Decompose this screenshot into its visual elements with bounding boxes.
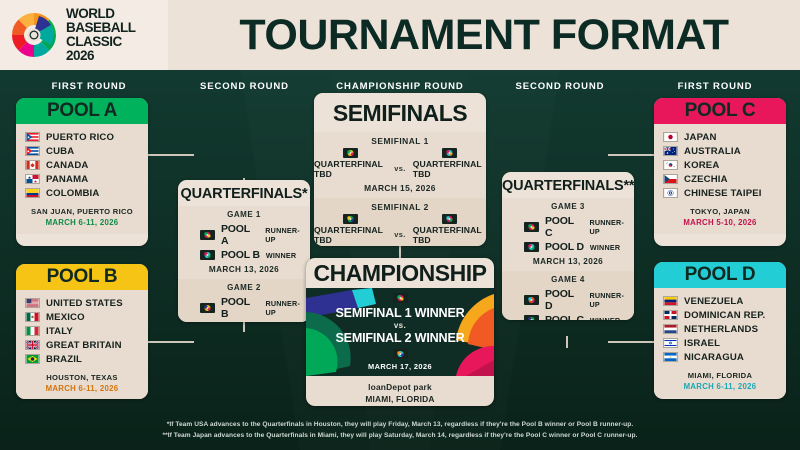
quarterfinals-left-card[interactable]: QUARTERFINALS* GAME 1 POOL A RUNNER-UP P… xyxy=(178,180,310,322)
flag-venezuela xyxy=(663,296,678,306)
flag-israel xyxy=(663,338,678,348)
semifinal-1-block: SEMIFINAL 1 QUARTERFINAL TBD vs. QUARTER… xyxy=(314,132,486,198)
qf-team-row: POOL C RUNNER-UP xyxy=(502,214,634,240)
championship-venue-line-1: loanDepot park xyxy=(306,381,494,393)
pool-a-team-row: PANAMA xyxy=(16,172,148,186)
pool-a-team-row: CANADA xyxy=(16,158,148,172)
championship-line-2: SEMIFINAL 2 WINNER xyxy=(335,331,464,345)
pool-card-pool-d[interactable]: POOL D VENEZUELA DOMINICAN REP. NETHERLA… xyxy=(654,262,786,399)
pool-a-venue-block: SAN JUAN, PUERTO RICO MARCH 6-11, 2026 xyxy=(16,202,148,234)
flag-korea xyxy=(663,160,678,170)
quarterfinals-right-title: QUARTERFINALS** xyxy=(502,172,634,198)
pool-d-team-name: VENEZUELA xyxy=(684,296,743,307)
qf-team-main: POOL C xyxy=(545,215,584,239)
pool-b-team-row: MEXICO xyxy=(16,310,148,324)
footnote-1: *If Team USA advances to the Quarterfina… xyxy=(0,420,800,431)
pool-b-team-row: BRAZIL xyxy=(16,352,148,366)
pool-c-team-name: CZECHIA xyxy=(684,174,728,185)
connector-pool-c-to-qf xyxy=(608,154,654,156)
pool-c-team-name: CHINESE TAIPEI xyxy=(684,188,762,199)
brand-year: 2026 xyxy=(66,49,136,63)
pool-c-team-row: AUSTRALIA xyxy=(654,144,786,158)
quarterfinals-right-card[interactable]: QUARTERFINALS** GAME 3 POOL C RUNNER-UP … xyxy=(502,172,634,320)
semifinal-side-right: QUARTERFINAL TBD xyxy=(413,214,486,245)
pool-c-team-row: KOREA xyxy=(654,158,786,172)
pool-a-team-name: CUBA xyxy=(46,146,74,157)
pool-c-venue: TOKYO, JAPAN xyxy=(656,206,784,217)
pool-b-venue: HOUSTON, TEXAS xyxy=(18,372,146,383)
quarterfinals-right-game-3: GAME 3 POOL C RUNNER-UP POOL D WINNER MA… xyxy=(502,198,634,271)
semifinal-label: SEMIFINAL 1 xyxy=(314,134,486,147)
round-label-championship-round: CHAMPIONSHIP ROUND xyxy=(322,81,478,92)
game-label: GAME 3 xyxy=(502,200,634,214)
pool-b-team-name: MEXICO xyxy=(46,312,85,323)
pool-d-team-row: ISRAEL xyxy=(654,336,786,350)
quarterfinals-left-title: QUARTERFINALS* xyxy=(178,180,310,206)
qf-game-date: MARCH 13, 2026 xyxy=(502,254,634,267)
pool-c-team-row: JAPAN xyxy=(654,130,786,144)
qf-team-sub: RUNNER-UP xyxy=(266,299,311,317)
pool-d-team-list: VENEZUELA DOMINICAN REP. NETHERLANDS ISR… xyxy=(654,288,786,366)
semifinal-team-right: QUARTERFINAL TBD xyxy=(413,159,486,179)
qf-team-row: POOL A WINNER xyxy=(178,321,310,322)
championship-venue-line-2: MIAMI, FLORIDA xyxy=(306,393,494,405)
round-label-first-round-right: FIRST ROUND xyxy=(640,81,790,92)
championship-date: MARCH 17, 2026 xyxy=(368,360,432,371)
flag-colombia xyxy=(25,188,40,198)
pool-a-team-row: CUBA xyxy=(16,144,148,158)
quarterfinals-left-game-2: GAME 2 POOL B RUNNER-UP POOL A WINNER MA… xyxy=(178,279,310,322)
championship-line-1: SEMIFINAL 1 WINNER xyxy=(335,306,464,320)
wbc-badge-icon xyxy=(200,230,215,240)
flag-nicaragua xyxy=(663,352,678,362)
flag-canada xyxy=(25,160,40,170)
qf-team-main: POOL D xyxy=(545,288,584,312)
pool-a-team-name: COLOMBIA xyxy=(46,188,99,199)
game-label: GAME 4 xyxy=(502,273,634,287)
game-label: GAME 1 xyxy=(178,208,310,222)
qf-team-sub: RUNNER-UP xyxy=(590,218,635,236)
round-label-second-round-left: SECOND ROUND xyxy=(172,81,317,92)
championship-body: SEMIFINAL 1 WINNER vs. SEMIFINAL 2 WINNE… xyxy=(306,288,494,376)
pool-a-team-row: COLOMBIA xyxy=(16,186,148,200)
semifinal-vs-label: vs. xyxy=(394,221,405,239)
pool-b-venue-block: HOUSTON, TEXAS MARCH 6-11, 2026 xyxy=(16,368,148,399)
qf-team-row: POOL D WINNER xyxy=(502,240,634,254)
connector-pool-a-to-qf xyxy=(148,154,194,156)
qf-team-sub: RUNNER-UP xyxy=(265,226,310,244)
flag-japan xyxy=(663,132,678,142)
flag-czechia xyxy=(663,174,678,184)
pool-b-dates: MARCH 6-11, 2026 xyxy=(18,383,146,394)
wbc-badge-icon xyxy=(442,148,457,158)
semifinal-side-right: QUARTERFINAL TBD xyxy=(413,148,486,179)
flag-great-britain xyxy=(25,340,40,350)
flag-mexico xyxy=(25,312,40,322)
pool-d-venue: MIAMI, FLORIDA xyxy=(656,370,784,381)
qf-team-row: POOL D RUNNER-UP xyxy=(502,287,634,313)
qf-team-sub: WINNER xyxy=(590,316,620,321)
pool-b-team-row: GREAT BRITAIN xyxy=(16,338,148,352)
pool-c-team-name: JAPAN xyxy=(684,132,717,143)
pool-d-banner: POOL D xyxy=(654,262,786,288)
quarterfinals-left-game-1: GAME 1 POOL A RUNNER-UP POOL B WINNER MA… xyxy=(178,206,310,279)
pool-a-dates: MARCH 6-11, 2026 xyxy=(18,217,146,228)
pool-a-team-row: PUERTO RICO xyxy=(16,130,148,144)
semifinals-title: SEMIFINALS xyxy=(314,93,486,132)
tournament-bracket-graphic: WORLD BASEBALL CLASSIC 2026 TOURNAMENT F… xyxy=(0,0,800,450)
flag-australia xyxy=(663,146,678,156)
semifinal-team-left: QUARTERFINAL TBD xyxy=(314,159,387,179)
pool-b-banner: POOL B xyxy=(16,264,148,290)
semifinal-date: MARCH 15, 2026 xyxy=(314,181,486,194)
wbc-logo xyxy=(9,10,59,60)
pool-d-team-name: DOMINICAN REP. xyxy=(684,310,765,321)
flag-dominican-republic xyxy=(663,310,678,320)
qf-game-date: MARCH 13, 2026 xyxy=(178,262,310,275)
connector-pool-b-to-qf xyxy=(148,341,194,343)
pool-b-team-name: UNITED STATES xyxy=(46,298,123,309)
pool-b-team-name: GREAT BRITAIN xyxy=(46,340,122,351)
semifinal-team-left: QUARTERFINAL TBD xyxy=(314,225,387,245)
brand-lockup: WORLD BASEBALL CLASSIC 2026 xyxy=(0,0,168,70)
pool-a-team-name: PANAMA xyxy=(46,174,88,185)
championship-venue: loanDepot park MIAMI, FLORIDA xyxy=(306,376,494,406)
pool-a-team-list: PUERTO RICO CUBA CANADA PANAMA COLOMBIA xyxy=(16,124,148,202)
pool-b-team-row: ITALY xyxy=(16,324,148,338)
pool-d-team-row: NICARAGUA xyxy=(654,350,786,364)
qf-team-row: POOL B RUNNER-UP xyxy=(178,295,310,321)
flag-united-states xyxy=(25,298,40,308)
wbc-badge-icon xyxy=(524,242,539,252)
pool-b-team-name: ITALY xyxy=(46,326,73,337)
pool-c-team-name: AUSTRALIA xyxy=(684,146,741,157)
pool-card-pool-a[interactable]: POOL A PUERTO RICO CUBA CANADA PANAMA CO… xyxy=(16,98,148,246)
qf-team-main: POOL B xyxy=(221,296,260,320)
pool-d-team-row: DOMINICAN REP. xyxy=(654,308,786,322)
qf-team-row: POOL A RUNNER-UP xyxy=(178,222,310,248)
wbc-badge-icon xyxy=(200,250,215,260)
flag-netherlands xyxy=(663,324,678,334)
connector-qf-right-stem xyxy=(566,336,568,348)
pool-c-dates: MARCH 5-10, 2026 xyxy=(656,217,784,228)
championship-vs-label: vs. xyxy=(394,321,406,330)
semifinal-label: SEMIFINAL 2 xyxy=(314,200,486,213)
game-label: GAME 2 xyxy=(178,281,310,295)
qf-team-sub: RUNNER-UP xyxy=(590,291,635,309)
flag-puerto-rico xyxy=(25,132,40,142)
round-label-first-round-left: FIRST ROUND xyxy=(14,81,164,92)
championship-title: CHAMPIONSHIP xyxy=(306,258,494,288)
round-label-second-round-right: SECOND ROUND xyxy=(486,81,634,92)
wbc-badge-icon xyxy=(524,222,539,232)
wbc-badge-icon xyxy=(343,214,358,224)
qf-team-row: POOL B WINNER xyxy=(178,248,310,262)
semifinal-2-block: SEMIFINAL 2 QUARTERFINAL TBD vs. QUARTER… xyxy=(314,198,486,246)
flag-chinese-taipei xyxy=(663,188,678,198)
pool-b-team-list: UNITED STATES MEXICO ITALY GREAT BRITAIN… xyxy=(16,290,148,368)
semifinal-side-left: QUARTERFINAL TBD xyxy=(314,214,387,245)
semifinals-card[interactable]: SEMIFINALS SEMIFINAL 1 QUARTERFINAL TBD … xyxy=(314,93,486,246)
wbc-badge-icon xyxy=(524,315,539,320)
qf-team-main: POOL D xyxy=(545,241,584,253)
brand-line-1: WORLD xyxy=(66,7,136,21)
pool-card-pool-b[interactable]: POOL B UNITED STATES MEXICO ITALY GREAT … xyxy=(16,264,148,399)
pool-d-dates: MARCH 6-11, 2026 xyxy=(656,381,784,392)
qf-team-main: POOL C xyxy=(545,314,584,320)
qf-team-sub: WINNER xyxy=(590,243,620,252)
pool-a-team-name: CANADA xyxy=(46,160,88,171)
pool-c-banner: POOL C xyxy=(654,98,786,124)
page-header: WORLD BASEBALL CLASSIC 2026 TOURNAMENT F… xyxy=(0,0,800,70)
semifinal-side-left: QUARTERFINAL TBD xyxy=(314,148,387,179)
wbc-badge-icon xyxy=(343,148,358,158)
wbc-badge-icon xyxy=(442,214,457,224)
pool-b-team-row: UNITED STATES xyxy=(16,296,148,310)
qf-team-main: POOL B xyxy=(221,249,260,261)
footnotes: *If Team USA advances to the Quarterfina… xyxy=(0,420,800,442)
championship-matchup: SEMIFINAL 1 WINNER vs. SEMIFINAL 2 WINNE… xyxy=(306,288,494,376)
pool-d-team-row: NETHERLANDS xyxy=(654,322,786,336)
semifinal-matchup: QUARTERFINAL TBD vs. QUARTERFINAL TBD xyxy=(314,213,486,246)
pool-c-team-row: CZECHIA xyxy=(654,172,786,186)
wbc-badge-icon xyxy=(524,295,539,305)
wbc-badge-icon xyxy=(200,303,215,313)
flag-cuba xyxy=(25,146,40,156)
brand-wordmark: WORLD BASEBALL CLASSIC 2026 xyxy=(66,7,136,63)
flag-brazil xyxy=(25,354,40,364)
connector-pool-d-to-qf xyxy=(608,341,654,343)
championship-card[interactable]: CHAMPIONSHIP SEMIFINAL 1 WINNER vs. SEMI… xyxy=(306,258,494,406)
pool-c-team-row: CHINESE TAIPEI xyxy=(654,186,786,200)
pool-b-team-name: BRAZIL xyxy=(46,354,82,365)
pool-a-banner: POOL A xyxy=(16,98,148,124)
pool-a-team-name: PUERTO RICO xyxy=(46,132,114,143)
page-title: TOURNAMENT FORMAT xyxy=(168,0,800,70)
pool-c-team-list: JAPAN AUSTRALIA KOREA CZECHIA CHINESE TA… xyxy=(654,124,786,202)
semifinal-vs-label: vs. xyxy=(394,155,405,173)
brand-line-2: BASEBALL xyxy=(66,21,136,35)
qf-team-row: POOL C WINNER xyxy=(502,313,634,320)
quarterfinals-right-game-4: GAME 4 POOL D RUNNER-UP POOL C WINNER MA… xyxy=(502,271,634,320)
pool-d-team-name: NICARAGUA xyxy=(684,352,744,363)
pool-d-team-name: ISRAEL xyxy=(684,338,720,349)
pool-d-team-row: VENEZUELA xyxy=(654,294,786,308)
pool-a-venue: SAN JUAN, PUERTO RICO xyxy=(18,206,146,217)
semifinal-team-right: QUARTERFINAL TBD xyxy=(413,225,486,245)
wbc-badge-icon xyxy=(393,349,408,359)
wbc-badge-icon xyxy=(393,293,408,303)
footnote-2: **If Team Japan advances to the Quarterf… xyxy=(0,431,800,442)
flag-italy xyxy=(25,326,40,336)
qf-team-main: POOL A xyxy=(221,223,259,247)
pool-c-venue-block: TOKYO, JAPAN MARCH 5-10, 2026 xyxy=(654,202,786,234)
semifinal-matchup: QUARTERFINAL TBD vs. QUARTERFINAL TBD xyxy=(314,147,486,181)
qf-team-sub: WINNER xyxy=(266,251,296,260)
pool-d-venue-block: MIAMI, FLORIDA MARCH 6-11, 2026 xyxy=(654,366,786,398)
brand-line-3: CLASSIC xyxy=(66,35,136,49)
pool-card-pool-c[interactable]: POOL C JAPAN AUSTRALIA KOREA CZECHIA CHI… xyxy=(654,98,786,246)
pool-c-team-name: KOREA xyxy=(684,160,719,171)
flag-panama xyxy=(25,174,40,184)
pool-d-team-name: NETHERLANDS xyxy=(684,324,758,335)
